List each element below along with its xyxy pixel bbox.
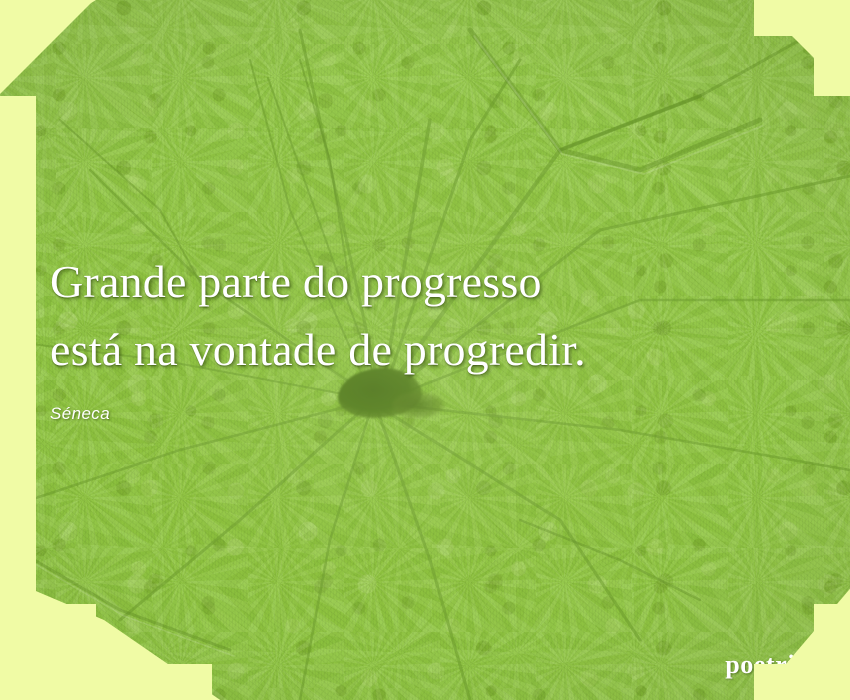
brand-watermark: poetris — [725, 650, 806, 680]
texture-vignette-layer — [0, 0, 850, 700]
quote-line-1: Grande parte do progresso — [50, 248, 840, 316]
quote-line-2: está na vontade de progredir. — [50, 316, 840, 384]
quote-text: Grande parte do progresso está na vontad… — [50, 248, 840, 384]
quote-card-stage: Grande parte do progresso está na vontad… — [0, 0, 850, 700]
texture-grain-layer — [0, 0, 850, 700]
texture-crack-lines — [0, 0, 850, 700]
texture-dark-blotch — [338, 368, 422, 418]
texture-mottle-layer-a — [0, 0, 850, 700]
quote-author: Séneca — [50, 404, 110, 424]
texture-base-layer — [0, 0, 850, 700]
texture-mottle-layer-b — [0, 0, 850, 700]
texture-dark-blotch-2 — [392, 392, 444, 418]
textured-quote-card: Grande parte do progresso está na vontad… — [0, 0, 850, 700]
card-content: Grande parte do progresso está na vontad… — [0, 0, 850, 700]
